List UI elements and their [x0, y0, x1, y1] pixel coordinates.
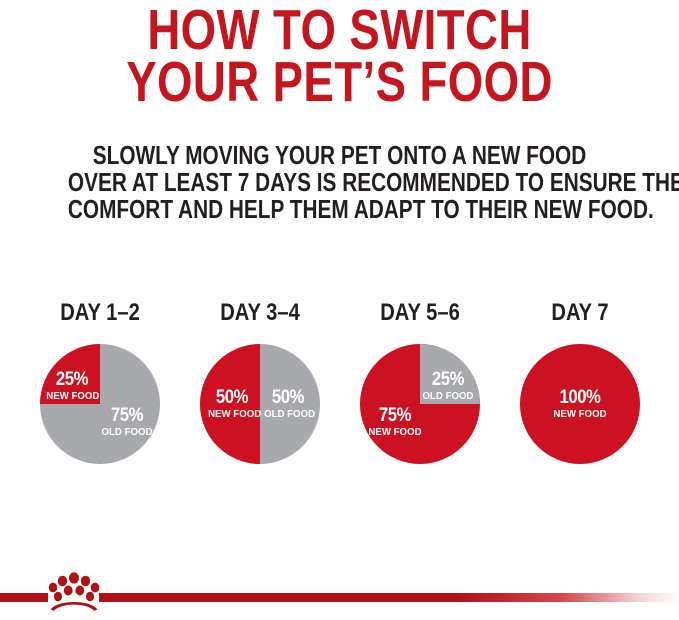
pie-cell-day-5-6: DAY 5–6 25% OLD FOOD 75% NEW FOOD: [340, 300, 500, 464]
day-label-4: DAY 7: [512, 300, 646, 326]
pie-slice-new-food: [520, 344, 640, 464]
pie-cell-day-3-4: DAY 3–4 50% NEW FOOD 50% OLD FOOD: [180, 300, 340, 464]
pie-slice-new-food: [40, 344, 100, 404]
pie-cell-day-7: DAY 7 100% NEW FOOD: [500, 300, 660, 464]
pie-chart-row: DAY 1–2 25% NEW FOOD 75% OLD FOOD DAY 3–…: [0, 300, 679, 464]
day-label-1: DAY 1–2: [32, 300, 166, 326]
subtitle: SLOWLY MOVING YOUR PET ONTO A NEW FOOD O…: [0, 142, 679, 223]
pie-slice-old-food: [420, 344, 480, 404]
day-label-3: DAY 5–6: [352, 300, 486, 326]
subtitle-line-2: OVER AT LEAST 7 DAYS IS RECOMMENDED TO E…: [68, 169, 611, 196]
footer-bar-right-segment: [99, 593, 679, 602]
pie-svg-day-1-2: [40, 344, 160, 464]
subtitle-line-1: SLOWLY MOVING YOUR PET ONTO A NEW FOOD: [68, 142, 611, 169]
pie-svg-day-5-6: [360, 344, 480, 464]
page-title: HOW TO SWITCH YOUR PET’S FOOD: [0, 0, 679, 108]
pie-slice-new-food: [200, 344, 260, 464]
pie-chart-day-3-4: 50% NEW FOOD 50% OLD FOOD: [200, 344, 320, 464]
pie-svg-day-3-4: [200, 344, 320, 464]
day-label-2: DAY 3–4: [192, 300, 326, 326]
pie-chart-day-5-6: 25% OLD FOOD 75% NEW FOOD: [360, 344, 480, 464]
pie-chart-day-1-2: 25% NEW FOOD 75% OLD FOOD: [40, 344, 160, 464]
title-line-1: HOW TO SWITCH: [68, 4, 611, 56]
subtitle-line-3: COMFORT AND HELP THEM ADAPT TO THEIR NEW…: [68, 196, 611, 223]
pie-chart-day-7: 100% NEW FOOD: [520, 344, 640, 464]
footer-bar-left-segment: [0, 593, 48, 602]
royal-canin-crown-icon: [48, 569, 100, 611]
title-line-2: YOUR PET’S FOOD: [68, 56, 611, 108]
footer-brand-bar: [0, 591, 679, 620]
pie-svg-day-7: [520, 344, 640, 464]
pie-cell-day-1-2: DAY 1–2 25% NEW FOOD 75% OLD FOOD: [20, 300, 180, 464]
